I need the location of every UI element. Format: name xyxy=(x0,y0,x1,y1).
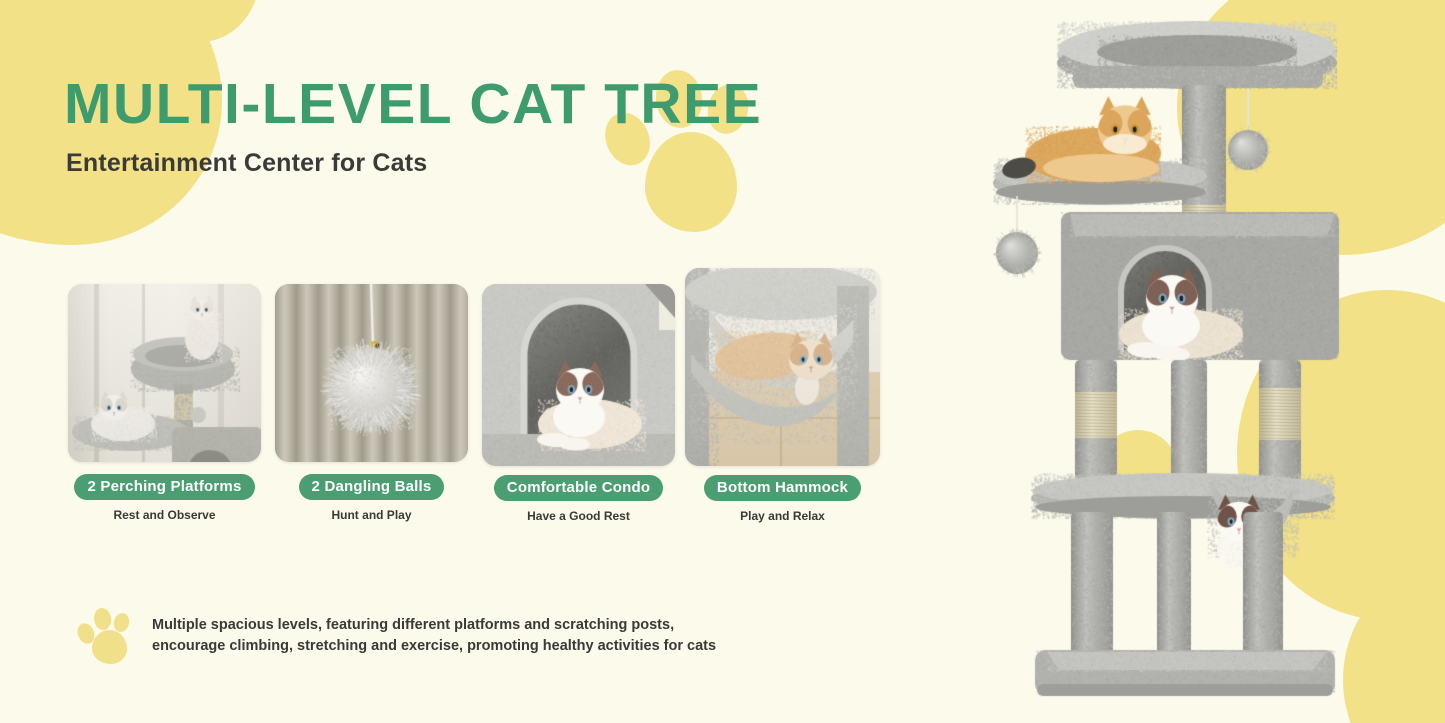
paw-print-icon-note xyxy=(78,608,140,664)
feature-card-perching-platforms[interactable]: 2 Perching Platforms Rest and Observe xyxy=(68,284,261,522)
feature-badge-bottom-hammock: Bottom Hammock xyxy=(704,475,861,501)
footer-note-text: Multiple spacious levels, featuring diff… xyxy=(152,615,716,657)
badge-wrap: 2 Dangling Balls xyxy=(275,474,468,500)
badge-wrap: Bottom Hammock xyxy=(685,475,880,501)
page-title: MULTI-LEVEL CAT TREE xyxy=(64,76,762,133)
page-subtitle: Entertainment Center for Cats xyxy=(66,149,762,178)
feature-caption-comfortable-condo: Have a Good Rest xyxy=(482,509,675,523)
footer-note-line-2: encourage climbing, stretching and exerc… xyxy=(152,636,716,657)
feature-badge-comfortable-condo: Comfortable Condo xyxy=(494,475,663,501)
feature-thumbnail-dangling-balls xyxy=(275,284,468,462)
badge-wrap: 2 Perching Platforms xyxy=(68,474,261,500)
yellow-blob-top-left-small xyxy=(130,0,260,42)
hero-block: MULTI-LEVEL CAT TREE Entertainment Cente… xyxy=(64,76,762,178)
feature-caption-dangling-balls: Hunt and Play xyxy=(275,508,468,522)
feature-badge-perching-platforms: 2 Perching Platforms xyxy=(74,474,254,500)
feature-card-dangling-balls[interactable]: 2 Dangling Balls Hunt and Play xyxy=(275,284,468,522)
feature-thumbnail-perching-platforms xyxy=(68,284,261,462)
feature-caption-perching-platforms: Rest and Observe xyxy=(68,508,261,522)
badge-wrap: Comfortable Condo xyxy=(482,475,675,501)
feature-thumbnail-bottom-hammock xyxy=(685,268,880,466)
footer-note-line-1: Multiple spacious levels, featuring diff… xyxy=(152,615,716,636)
feature-card-comfortable-condo[interactable]: Comfortable Condo Have a Good Rest xyxy=(482,284,675,523)
feature-card-bottom-hammock[interactable]: Bottom Hammock Play and Relax xyxy=(685,268,880,523)
feature-caption-bottom-hammock: Play and Relax xyxy=(685,509,880,523)
infographic-stage: MULTI-LEVEL CAT TREE Entertainment Cente… xyxy=(0,0,1445,723)
footer-note: Multiple spacious levels, featuring diff… xyxy=(78,608,716,664)
feature-badge-dangling-balls: 2 Dangling Balls xyxy=(299,474,445,500)
product-image-cat-tree xyxy=(975,0,1445,723)
feature-thumbnail-comfortable-condo xyxy=(482,284,675,466)
